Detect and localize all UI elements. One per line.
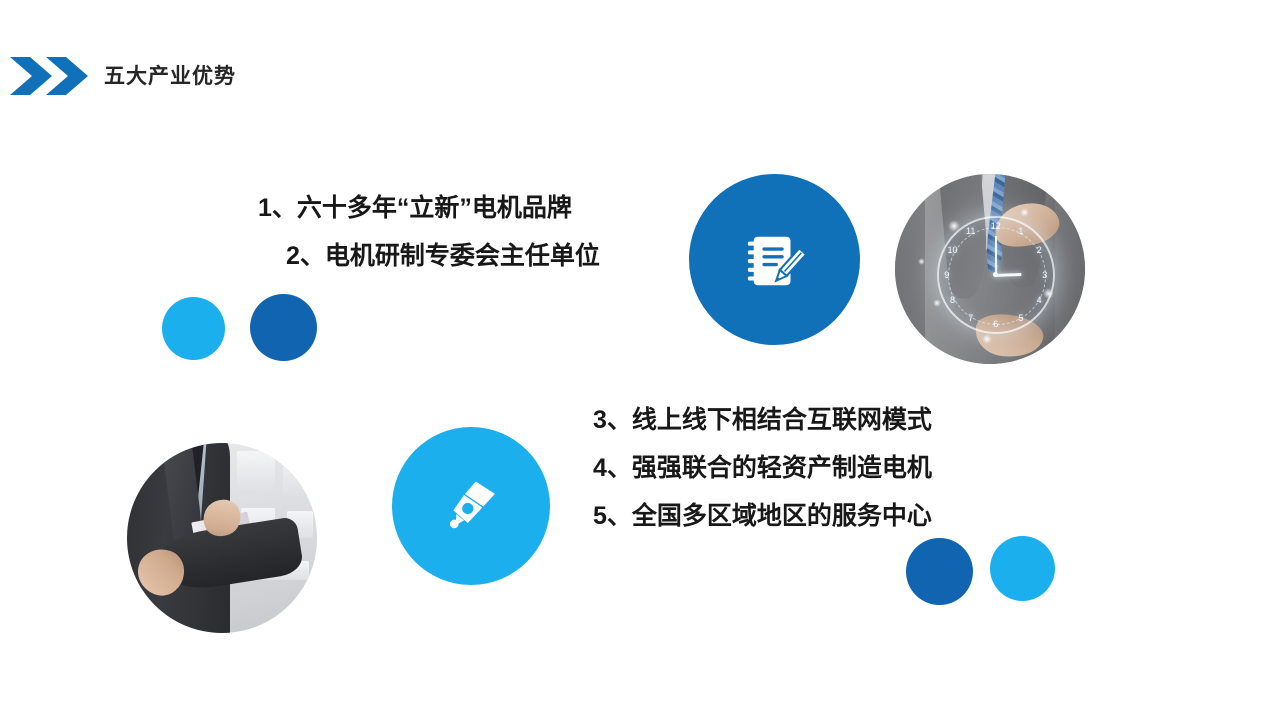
slide-canvas: 五大产业优势 1、六十多年“立新”电机品牌 2、电机研制专委会主任单位	[0, 0, 1280, 720]
advantage-line-3: 3、线上线下相结合互联网模式	[593, 408, 932, 433]
double-chevron-right-icon	[8, 55, 90, 97]
notepad-pencil-icon	[744, 229, 806, 291]
advantage-line-4: 4、强强联合的轻资产制造电机	[593, 456, 932, 481]
advantage-line-1: 1、六十多年“立新”电机品牌	[258, 196, 600, 221]
glowing-clock-face: 12 1 2 3 4 5 6 7 8 9 10 11	[937, 216, 1055, 334]
bottom-text-block: 3、线上线下相结合互联网模式 4、强强联合的轻资产制造电机 5、全国多区域地区的…	[593, 408, 932, 529]
top-text-block: 1、六十多年“立新”电机品牌 2、电机研制专委会主任单位	[258, 196, 600, 269]
pen-nib-icon-circle[interactable]	[392, 427, 550, 585]
advantage-line-5: 5、全国多区域地区的服务中心	[593, 504, 932, 529]
pen-nib-icon	[441, 476, 501, 536]
accent-circle-blue-top	[250, 294, 317, 361]
accent-circle-blue-bottom	[906, 538, 973, 605]
businessman-holding-clock-photo: 12 1 2 3 4 5 6 7 8 9 10 11	[895, 174, 1085, 364]
accent-circle-cyan-bottom	[990, 536, 1055, 601]
person-writing-on-folder-photo	[127, 443, 317, 633]
accent-circle-cyan-top	[162, 297, 225, 360]
slide-header: 五大产业优势	[0, 52, 236, 100]
advantage-line-2: 2、电机研制专委会主任单位	[286, 244, 600, 269]
page-title: 五大产业优势	[104, 66, 236, 87]
notepad-icon-circle[interactable]	[689, 174, 860, 345]
